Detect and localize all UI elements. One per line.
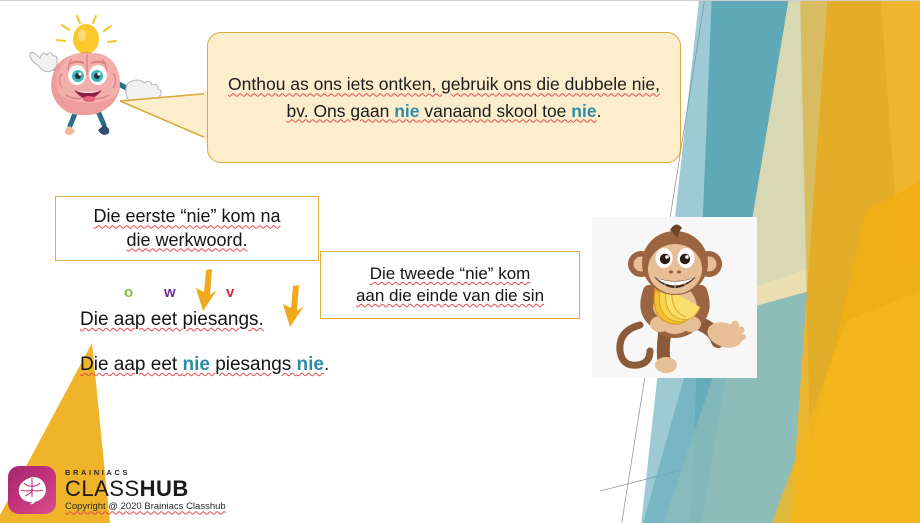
arrow-to-first-nie	[190, 267, 220, 313]
callout-1-line-2: die werkwoord.	[126, 230, 247, 250]
logo-class-word: CLASS	[65, 476, 140, 501]
example-2-part-3: .	[324, 354, 329, 375]
monkey-left-foot	[655, 357, 677, 373]
monkey-picture-frame	[592, 217, 757, 378]
bubble-line-2-a: bv. Ons gaan	[287, 101, 395, 121]
marker-voorwerp: v	[226, 284, 234, 301]
speech-bubble-text: Onthou as ons iets ontken, gebruik ons d…	[212, 71, 676, 124]
example-sentence-negative: Die aap eet nie piesangs nie.	[80, 354, 329, 376]
callout-2-line-1: Die tweede “nie” kom	[370, 264, 531, 283]
logo-classhub-text: CLASSHUB	[65, 478, 226, 500]
left-glove	[30, 52, 57, 71]
bubble-line-1: Onthou as ons iets ontken, gebruik ons d…	[228, 74, 660, 94]
logo-copyright-text: Copyright @ 2020 Brainiacs Classhub	[65, 502, 226, 512]
speech-bubble: Onthou as ons iets ontken, gebruik ons d…	[207, 32, 681, 163]
brainiacs-classhub-logo: BRAINIACS CLASSHUB Copyright @ 2020 Brai…	[8, 465, 226, 515]
monkey-tail	[620, 325, 650, 365]
marker-werkwoord: w	[164, 284, 176, 301]
bubble-nie-1: nie	[394, 101, 419, 121]
logo-hub-word: HUB	[140, 476, 189, 501]
example-2-part-2: piesangs	[210, 354, 297, 375]
marker-onderwerp: o	[124, 284, 133, 301]
example-2-nie-1: nie	[182, 354, 209, 375]
slide-canvas: Onthou as ons iets ontken, gebruik ons d…	[0, 0, 920, 523]
bubble-line-2-c: .	[597, 101, 602, 121]
grammar-markers: o w v	[80, 284, 380, 306]
example-sentence-1-text: Die aap eet piesangs.	[80, 309, 264, 330]
brain-glyph-icon	[15, 473, 49, 507]
callout-1-line-1: Die eerste “nie” kom na	[93, 206, 280, 226]
example-2-nie-2: nie	[297, 354, 324, 375]
example-sentence-positive: Die aap eet piesangs.	[80, 309, 264, 331]
bubble-nie-2: nie	[571, 101, 596, 121]
lightbulb-glass	[73, 24, 99, 54]
right-leg	[98, 111, 104, 125]
bubble-line-2-b: vanaand skool toe	[420, 101, 572, 121]
example-2-part-1: Die aap eet	[80, 354, 182, 375]
left-foot	[65, 126, 75, 135]
callout-first-nie: Die eerste “nie” kom na die werkwoord.	[55, 196, 319, 261]
brain-logo-icon	[8, 466, 56, 514]
monkey-holding-bananas-icon	[592, 217, 757, 378]
brain-body	[51, 53, 120, 115]
speech-bubble-tail	[118, 89, 213, 147]
right-foot	[98, 125, 109, 135]
arrow-to-second-nie	[277, 283, 307, 329]
logo-wordmark: BRAINIACS CLASSHUB Copyright @ 2020 Brai…	[65, 469, 226, 511]
callout-2-line-2: aan die einde van die sin	[356, 286, 544, 305]
